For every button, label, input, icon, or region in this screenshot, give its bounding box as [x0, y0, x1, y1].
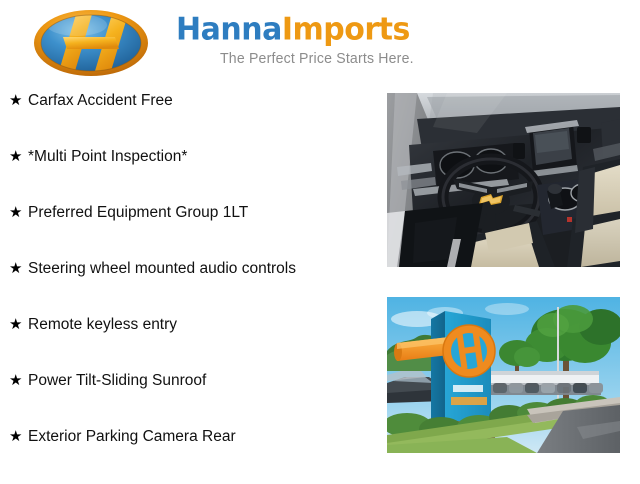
feature-label: Preferred Equipment Group 1LT — [28, 204, 248, 222]
vehicle-interior-photo[interactable] — [387, 93, 620, 267]
feature-label: Power Tilt-Sliding Sunroof — [28, 372, 206, 390]
star-bullet-icon: ★ — [9, 317, 27, 332]
star-bullet-icon: ★ — [9, 429, 27, 444]
star-bullet-icon: ★ — [9, 373, 27, 388]
star-bullet-icon: ★ — [9, 205, 27, 220]
feature-list-item: ★ Preferred Equipment Group 1LT — [0, 204, 380, 260]
feature-label: Steering wheel mounted audio controls — [28, 260, 296, 278]
brand-name-line: HannaImports — [176, 12, 516, 48]
brand-word-hanna: Hanna — [176, 11, 282, 48]
feature-label: Remote keyless entry — [28, 316, 177, 334]
star-bullet-icon: ★ — [9, 149, 27, 164]
feature-label: Exterior Parking Camera Rear — [28, 428, 236, 446]
feature-list-item: ★ Power Tilt-Sliding Sunroof — [0, 372, 380, 428]
hanna-oval-h-logo-icon — [33, 9, 150, 77]
star-bullet-icon: ★ — [9, 261, 27, 276]
feature-list-item: ★ Exterior Parking Camera Rear — [0, 428, 380, 484]
dealer-logo-header: HannaImports The Perfect Price Starts He… — [0, 0, 640, 88]
brand-tagline: The Perfect Price Starts Here. — [220, 50, 498, 67]
brand-wordmark: HannaImports The Perfect Price Starts He… — [176, 12, 516, 78]
feature-list-item: ★ Carfax Accident Free — [0, 92, 380, 148]
brand-word-imports: Imports — [282, 11, 410, 48]
feature-label: *Multi Point Inspection* — [28, 148, 187, 166]
dealership-sign-photo[interactable] — [387, 297, 620, 453]
vehicle-feature-list: ★ Carfax Accident Free ★ *Multi Point In… — [0, 92, 380, 484]
star-bullet-icon: ★ — [9, 93, 27, 108]
feature-label: Carfax Accident Free — [28, 92, 173, 110]
feature-list-item: ★ Remote keyless entry — [0, 316, 380, 372]
feature-list-item: ★ *Multi Point Inspection* — [0, 148, 380, 204]
feature-list-item: ★ Steering wheel mounted audio controls — [0, 260, 380, 316]
